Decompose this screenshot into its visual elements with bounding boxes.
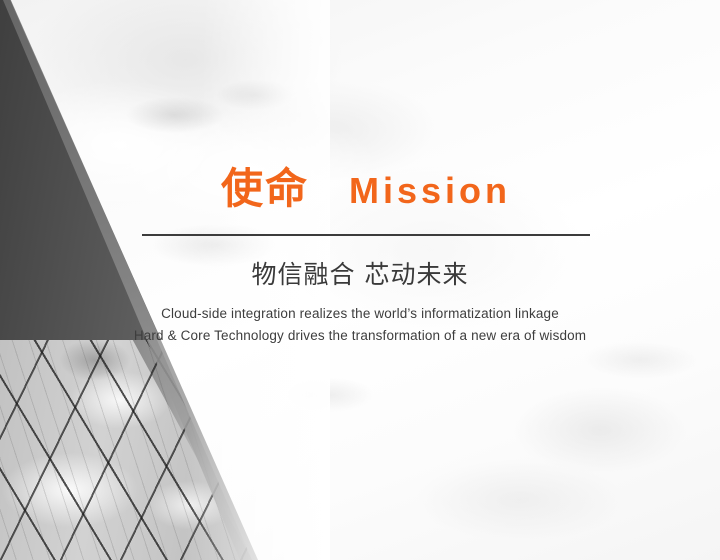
hero-tagline: Cloud-side integration realizes the worl… [0,303,720,347]
hero-heading: 使命 Mission [142,168,590,210]
hero-subtitle: 物信融合 芯动未来 [0,259,720,290]
hero-content: 使命 Mission 物信融合 芯动未来 Cloud-side integrat… [0,0,720,560]
heading-chinese: 使命 [221,168,309,210]
tagline-line-1: Cloud-side integration realizes the worl… [0,303,720,325]
tagline-line-2: Hard & Core Technology drives the transf… [0,325,720,347]
heading-english: Mission [349,173,511,209]
heading-divider-rule [142,234,590,236]
mission-hero-slide: 使命 Mission 物信融合 芯动未来 Cloud-side integrat… [0,0,720,560]
